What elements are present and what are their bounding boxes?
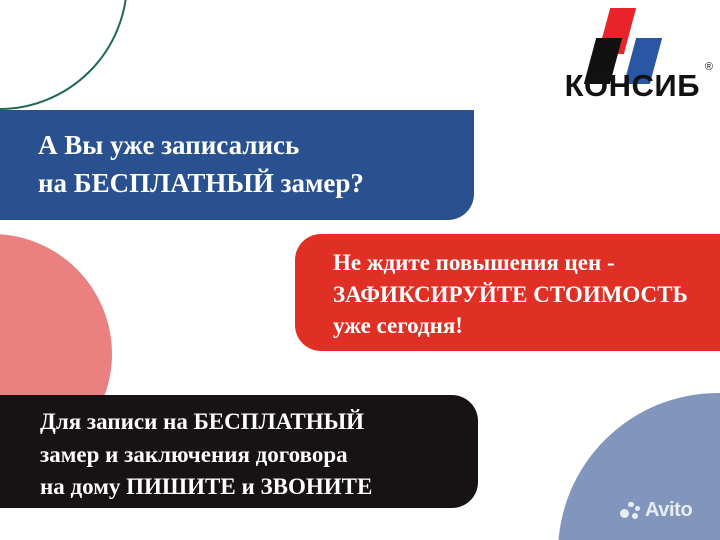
headline-panel-blue: А Вы уже записались на БЕСПЛАТНЫЙ замер? <box>0 110 474 220</box>
urgency-line-1: Не ждите повышения цен - <box>333 247 720 279</box>
urgency-panel-red: Не ждите повышения цен - ЗАФИКСИРУЙТЕ СТ… <box>295 234 720 351</box>
avito-dots-icon <box>620 501 642 521</box>
urgency-line-2: ЗАФИКСИРУЙТЕ СТОИМОСТЬ <box>333 279 720 311</box>
logo-wordmark-row: КОНСИБ ® <box>520 70 702 101</box>
cta-line-2: замер и заключения договора <box>40 439 478 472</box>
headline-line-2: на БЕСПЛАТНЫЙ замер? <box>38 164 474 202</box>
cta-line-3: на дому ПИШИТЕ и ЗВОНИТЕ <box>40 471 478 504</box>
avito-watermark: Avito <box>620 499 692 522</box>
konsib-logo-mark-icon <box>520 8 702 70</box>
green-ring-decoration <box>0 0 128 110</box>
brand-logo: КОНСИБ ® <box>520 8 702 104</box>
headline-line-1: А Вы уже записались <box>38 126 474 164</box>
urgency-line-3: уже сегодня! <box>333 310 720 342</box>
brand-wordmark: КОНСИБ <box>565 68 700 103</box>
cta-panel-black: Для записи на БЕСПЛАТНЫЙ замер и заключе… <box>0 395 478 508</box>
registered-trademark-icon: ® <box>705 62 713 73</box>
advertisement-poster: КОНСИБ ® А Вы уже записались на БЕСПЛАТН… <box>0 0 720 540</box>
cta-line-1: Для записи на БЕСПЛАТНЫЙ <box>40 406 478 439</box>
avito-watermark-label: Avito <box>645 499 692 522</box>
